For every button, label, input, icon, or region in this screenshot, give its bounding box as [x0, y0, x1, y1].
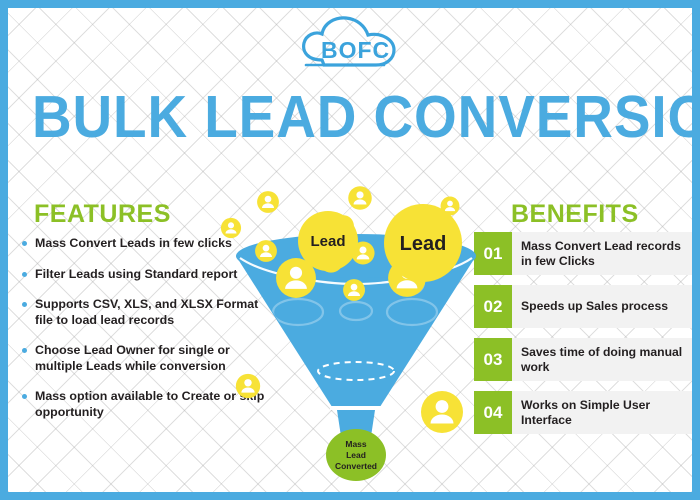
- converted-label-line-1: Mass: [345, 439, 367, 449]
- list-item: 01 Mass Convert Lead records in few Clic…: [474, 232, 694, 275]
- avatar: [236, 374, 260, 398]
- converted-label-line-2: Lead: [346, 450, 366, 460]
- feature-text: Choose Lead Owner for single or multiple…: [35, 343, 230, 373]
- funnel-cone: [236, 256, 476, 410]
- lead-bubble-small: Lead: [298, 211, 358, 271]
- list-item: 03 Saves time of doing manual work: [474, 338, 694, 381]
- bullet-icon: [22, 241, 27, 246]
- avatar: [221, 218, 241, 238]
- features-heading: FEATURES: [34, 200, 171, 229]
- logo-text: BOFC: [321, 37, 390, 63]
- feature-text: Supports CSV, XLS, and XLSX Format file …: [35, 297, 258, 327]
- bullet-icon: [22, 302, 27, 307]
- feature-text: Filter Leads using Standard report: [35, 267, 237, 281]
- list-item: 04 Works on Simple User Interface: [474, 391, 694, 434]
- benefits-list: 01 Mass Convert Lead records in few Clic…: [474, 232, 694, 444]
- avatar: [255, 240, 277, 262]
- benefit-text: Saves time of doing manual work: [512, 338, 694, 381]
- poster-content: BOFC BULK LEAD CONVERSION FEATURES Mass …: [8, 8, 692, 492]
- avatar: [343, 279, 365, 301]
- bullet-icon: [22, 348, 27, 353]
- avatar: [421, 391, 463, 433]
- benefits-heading: BENEFITS: [511, 200, 639, 229]
- bullet-icon: [22, 272, 27, 277]
- feature-text: Mass Convert Leads in few clicks: [35, 236, 232, 250]
- benefit-text: Speeds up Sales process: [512, 285, 694, 328]
- lead-bubble-label: Lead: [400, 233, 447, 255]
- page-title: BULK LEAD CONVERSION: [32, 86, 668, 148]
- lead-conversion-funnel: Mass Lead Converted: [226, 178, 486, 478]
- lead-bubble-large: Lead: [384, 204, 462, 282]
- lead-bubble-label: Lead: [310, 233, 345, 250]
- converted-label-line-3: Converted: [335, 461, 377, 471]
- infographic-poster: BOFC BULK LEAD CONVERSION FEATURES Mass …: [0, 0, 700, 500]
- avatar: [257, 191, 279, 213]
- bofc-cloud-logo: BOFC: [8, 14, 692, 76]
- avatar: [348, 186, 372, 210]
- bullet-icon: [22, 394, 27, 399]
- benefit-text: Works on Simple User Interface: [512, 391, 694, 434]
- funnel-gap: [330, 406, 382, 410]
- list-item: 02 Speeds up Sales process: [474, 285, 694, 328]
- benefit-text: Mass Convert Lead records in few Clicks: [512, 232, 694, 275]
